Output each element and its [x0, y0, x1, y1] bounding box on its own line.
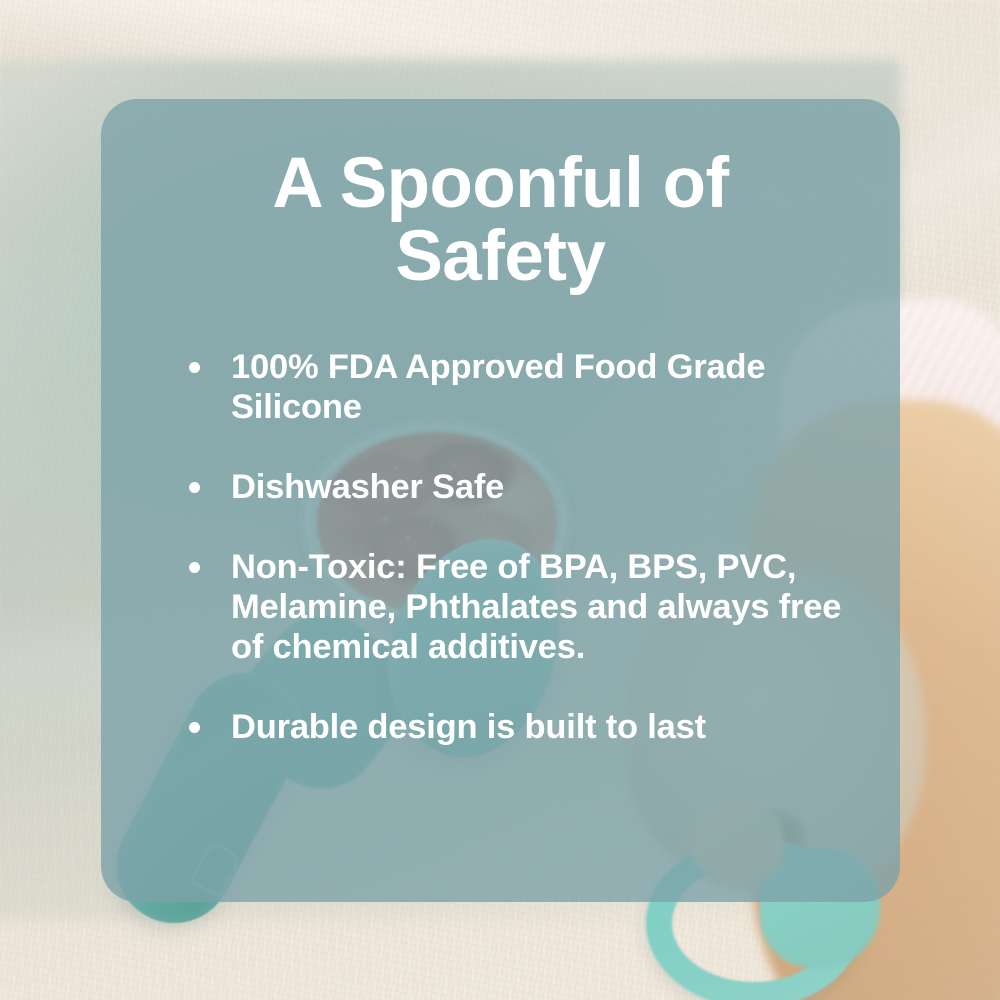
list-item: Dishwasher Safe	[185, 467, 844, 507]
list-item: Durable design is built to last	[185, 707, 844, 747]
feature-bullet-list: 100% FDA Approved Food Grade Silicone Di…	[145, 347, 856, 747]
marketing-graphic-canvas: A Spoonful of Safety 100% FDA Approved F…	[0, 0, 1000, 1000]
bullet-dot-icon	[189, 482, 200, 493]
list-item: 100% FDA Approved Food Grade Silicone	[185, 347, 844, 427]
list-item: Non-Toxic: Free of BPA, BPS, PVC, Melami…	[185, 547, 844, 667]
page-title: A Spoonful of Safety	[145, 147, 856, 293]
list-item-label: Dishwasher Safe	[231, 468, 504, 506]
list-item-label: Durable design is built to last	[231, 708, 706, 746]
list-item-label: Non-Toxic: Free of BPA, BPS, PVC, Melami…	[231, 548, 841, 666]
bullet-dot-icon	[189, 722, 200, 733]
text-overlay-card: A Spoonful of Safety 100% FDA Approved F…	[101, 99, 900, 902]
bullet-dot-icon	[189, 362, 200, 373]
list-item-label: 100% FDA Approved Food Grade Silicone	[231, 348, 765, 426]
bullet-dot-icon	[189, 562, 200, 573]
